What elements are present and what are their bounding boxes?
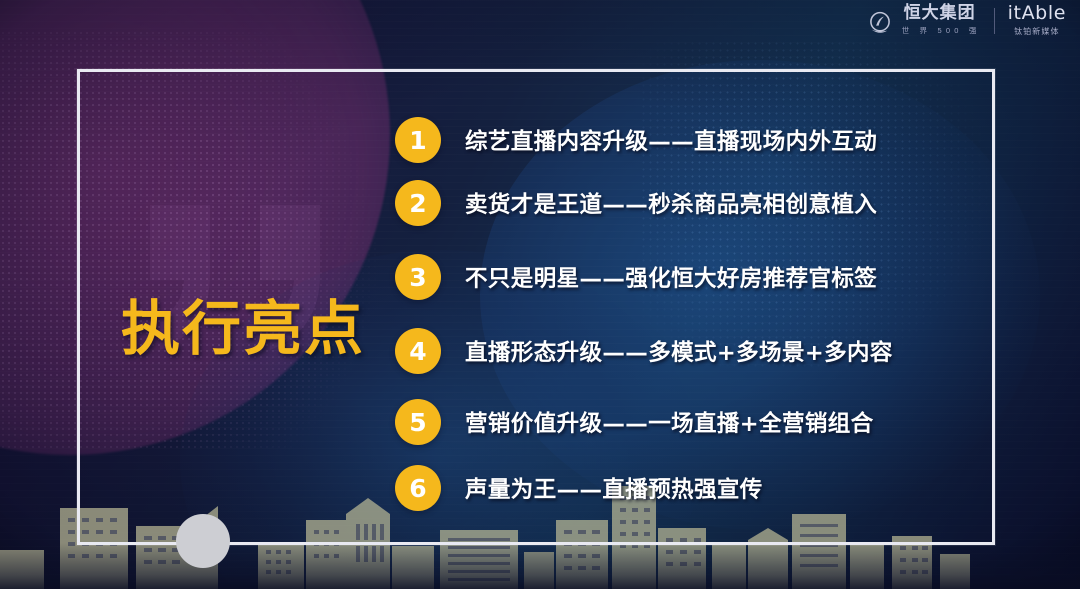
- item-number-badge: 3: [395, 254, 441, 300]
- slide-root: 恒大集团 世 界 500 强 itAble 钛铂新媒体 执行亮点 1 综艺直播内…: [0, 0, 1080, 589]
- list-item: 1 综艺直播内容升级——直播现场内外互动: [395, 117, 877, 163]
- item-number-badge: 6: [395, 465, 441, 511]
- list-item: 6 声量为王——直播预热强宣传: [395, 465, 763, 511]
- itable-name-cn: 钛铂新媒体: [1014, 26, 1060, 37]
- list-item: 4 直播形态升级——多模式+多场景+多内容: [395, 328, 893, 374]
- list-item: 5 营销价值升级——一场直播+全营销组合: [395, 399, 874, 445]
- itable-logo: itAble 钛铂新媒体: [1008, 4, 1066, 37]
- slide-title: 执行亮点: [121, 281, 365, 366]
- item-number-badge: 5: [395, 399, 441, 445]
- item-number-badge: 2: [395, 180, 441, 226]
- evergrande-tagline: 世 界 500 强: [899, 25, 981, 36]
- brand-logo-bar: 恒大集团 世 界 500 强 itAble 钛铂新媒体: [867, 4, 1066, 37]
- item-text: 营销价值升级——一场直播+全营销组合: [465, 406, 874, 438]
- item-number-badge: 4: [395, 328, 441, 374]
- gray-circle-decoration: [176, 514, 230, 568]
- item-text: 声量为王——直播预热强宣传: [465, 472, 763, 504]
- list-item: 2 卖货才是王道——秒杀商品亮相创意植入: [395, 180, 877, 226]
- evergrande-name-cn: 恒大集团: [904, 5, 976, 23]
- item-text: 不只是明星——强化恒大好房推荐官标签: [465, 261, 877, 293]
- itable-name: itAble: [1008, 4, 1066, 23]
- item-text: 直播形态升级——多模式+多场景+多内容: [465, 335, 893, 367]
- item-number-badge: 1: [395, 117, 441, 163]
- item-text: 综艺直播内容升级——直播现场内外互动: [465, 124, 877, 156]
- evergrande-swan-icon: [867, 10, 893, 36]
- list-item: 3 不只是明星——强化恒大好房推荐官标签: [395, 254, 877, 300]
- item-text: 卖货才是王道——秒杀商品亮相创意植入: [465, 187, 877, 219]
- evergrande-wordmark: 恒大集团 世 界 500 强: [899, 5, 981, 36]
- cityscape-fade-overlay: [0, 543, 1080, 589]
- logo-separator: [994, 8, 995, 34]
- evergrande-logo: 恒大集团 世 界 500 强: [867, 5, 981, 36]
